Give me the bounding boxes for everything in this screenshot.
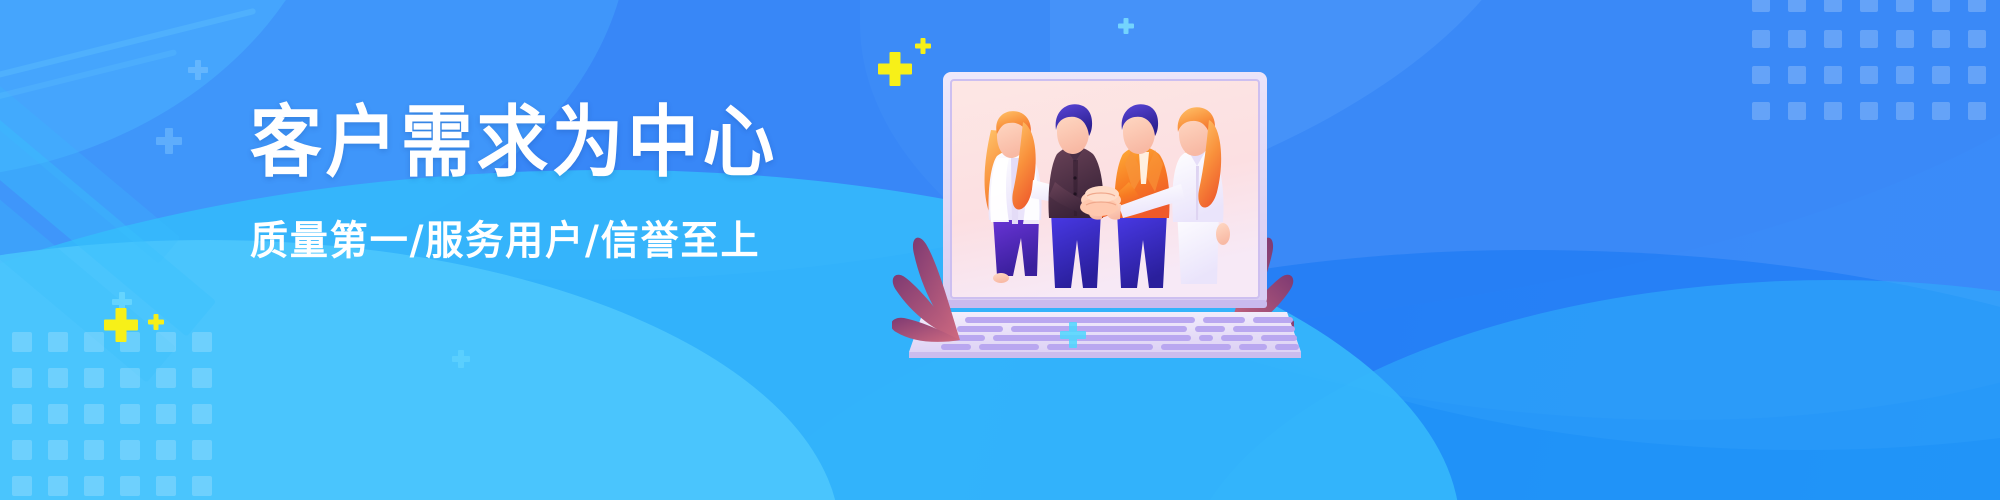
plus-yellow-large-top-icon — [878, 52, 912, 86]
banner-subline: 质量第一/服务用户/信誉至上 — [250, 208, 839, 266]
plus-white-upper-icon — [156, 128, 182, 154]
plus-cyan-bottom-icon — [452, 350, 470, 368]
streak-accent-1 — [0, 8, 256, 86]
plus-yellow-large-left-icon — [104, 308, 138, 342]
promo-banner: 客户需求为中心 质量第一/服务用户/信誉至上 — [0, 0, 2000, 500]
plus-yellow-small-left-icon — [148, 314, 164, 330]
leaf-sprig-left — [892, 228, 964, 353]
plus-cyan-small-top-icon — [1118, 18, 1134, 34]
square-grid-top-right — [1752, 0, 1986, 120]
square-grid-bottom-left — [12, 332, 212, 496]
streak-accent-2 — [0, 49, 177, 113]
laptop-hinge — [943, 300, 1267, 308]
headline-text-block: 客户需求为中心 质量第一/服务用户/信誉至上 — [250, 104, 870, 266]
plus-cyan-mid-icon — [1060, 322, 1086, 348]
plus-yellow-small-top-icon — [915, 38, 931, 54]
banner-headline: 客户需求为中心 — [250, 104, 820, 184]
laptop-team-huddle-illustration — [905, 60, 1305, 360]
plus-white-topleft-icon — [188, 60, 208, 80]
